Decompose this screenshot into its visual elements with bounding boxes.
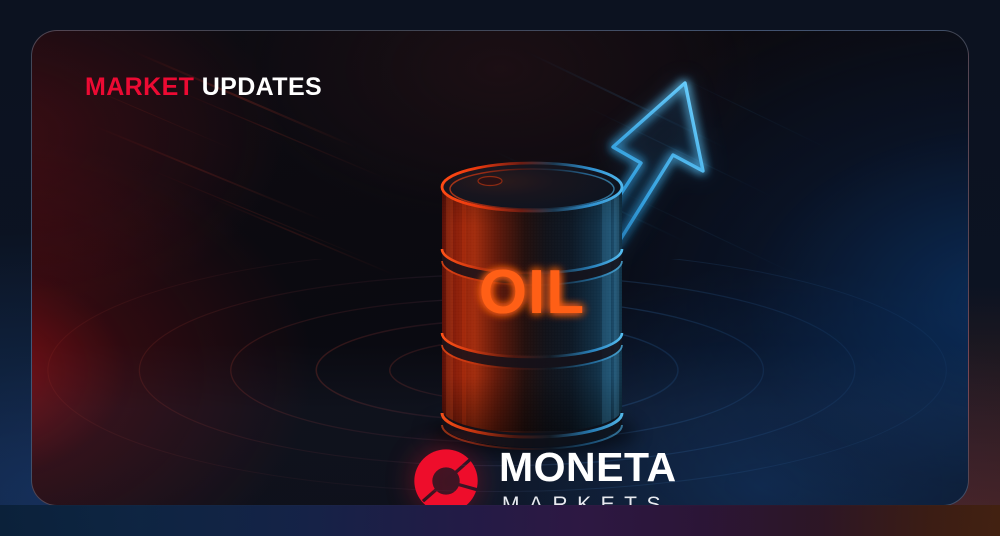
headline-accent: MARKET	[85, 73, 194, 101]
oil-barrel-illustration: OIL	[402, 141, 662, 461]
oil-barrel-graphic: OIL	[402, 141, 662, 461]
promo-card: MARKET UPDATES	[31, 30, 969, 506]
brand-wordmark: MONETA MARKETS	[499, 447, 677, 506]
bottom-accent-band	[0, 505, 1000, 536]
poster-canvas: MARKET UPDATES	[0, 0, 1000, 536]
barrel-label: OIL	[479, 258, 585, 327]
moneta-donut-icon	[410, 445, 482, 506]
brand-logo: MONETA MARKETS	[410, 445, 677, 506]
brand-name: MONETA	[499, 447, 677, 487]
headline-plain: UPDATES	[202, 73, 322, 101]
page-title: MARKET UPDATES	[85, 75, 322, 100]
barrel-bung-cap	[478, 177, 502, 186]
